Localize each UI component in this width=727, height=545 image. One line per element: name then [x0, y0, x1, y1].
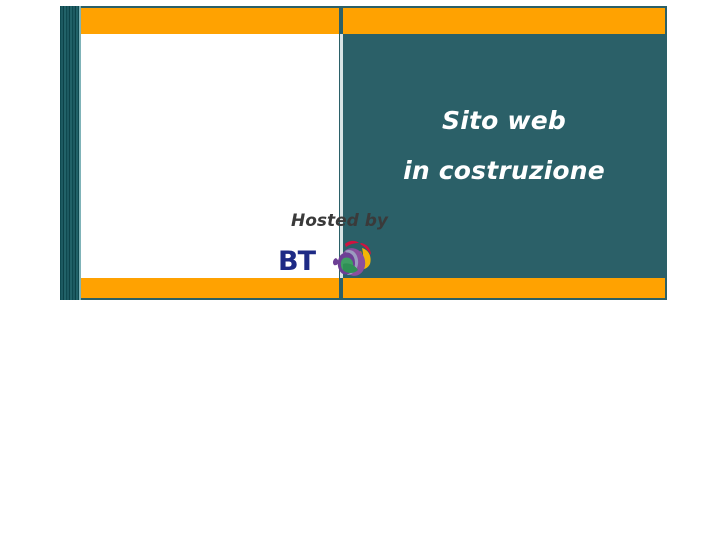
headline-line-1: Sito web	[343, 96, 665, 146]
page-title: Sito web in costruzione	[343, 96, 665, 196]
bottom-orange-band-right	[343, 278, 665, 298]
under-construction-banner: Sito web in costruzione Hosted by BT	[60, 6, 667, 300]
bottom-rule	[81, 298, 665, 300]
headline-line-2: in costruzione	[343, 146, 665, 196]
decorative-striped-spine	[60, 6, 79, 300]
bt-wordmark: BT	[278, 246, 315, 277]
top-orange-band-right	[343, 8, 665, 34]
top-orange-band-left	[81, 8, 339, 34]
bottom-orange-band-left	[81, 278, 339, 298]
hosted-by-label: Hosted by	[81, 211, 388, 231]
